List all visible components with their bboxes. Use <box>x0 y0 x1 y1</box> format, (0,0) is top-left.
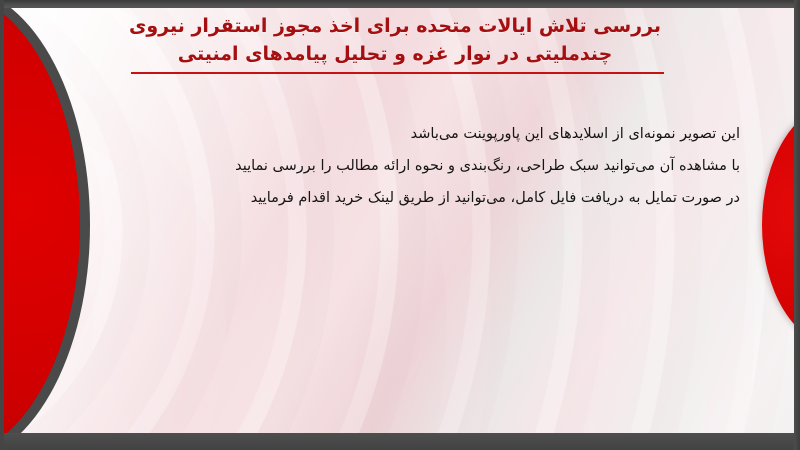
body-line-2: با مشاهده آن می‌توانید سبک طراحی، رنگ‌بن… <box>120 150 740 182</box>
body-line-3: در صورت تمایل به دریافت فایل کامل، می‌تو… <box>120 182 740 214</box>
slide-title: بررسی تلاش ایالات متحده برای اخذ مجوز اس… <box>0 12 790 68</box>
slide-body-text: این تصویر نمونه‌ای از اسلایدهای این پاور… <box>120 118 740 214</box>
presentation-slide: بررسی تلاش ایالات متحده برای اخذ مجوز اس… <box>0 0 800 450</box>
body-line-1: این تصویر نمونه‌ای از اسلایدهای این پاور… <box>120 118 740 150</box>
slide-frame-top <box>0 0 800 8</box>
slide-title-line-1: بررسی تلاش ایالات متحده برای اخذ مجوز اس… <box>0 12 790 40</box>
slide-title-line-2: چندملیتی در نوار غزه و تحلیل پیامدهای ام… <box>0 40 790 68</box>
slide-frame-bottom <box>0 433 800 450</box>
title-underline-rule <box>131 72 664 74</box>
slide-frame-right <box>794 0 800 450</box>
